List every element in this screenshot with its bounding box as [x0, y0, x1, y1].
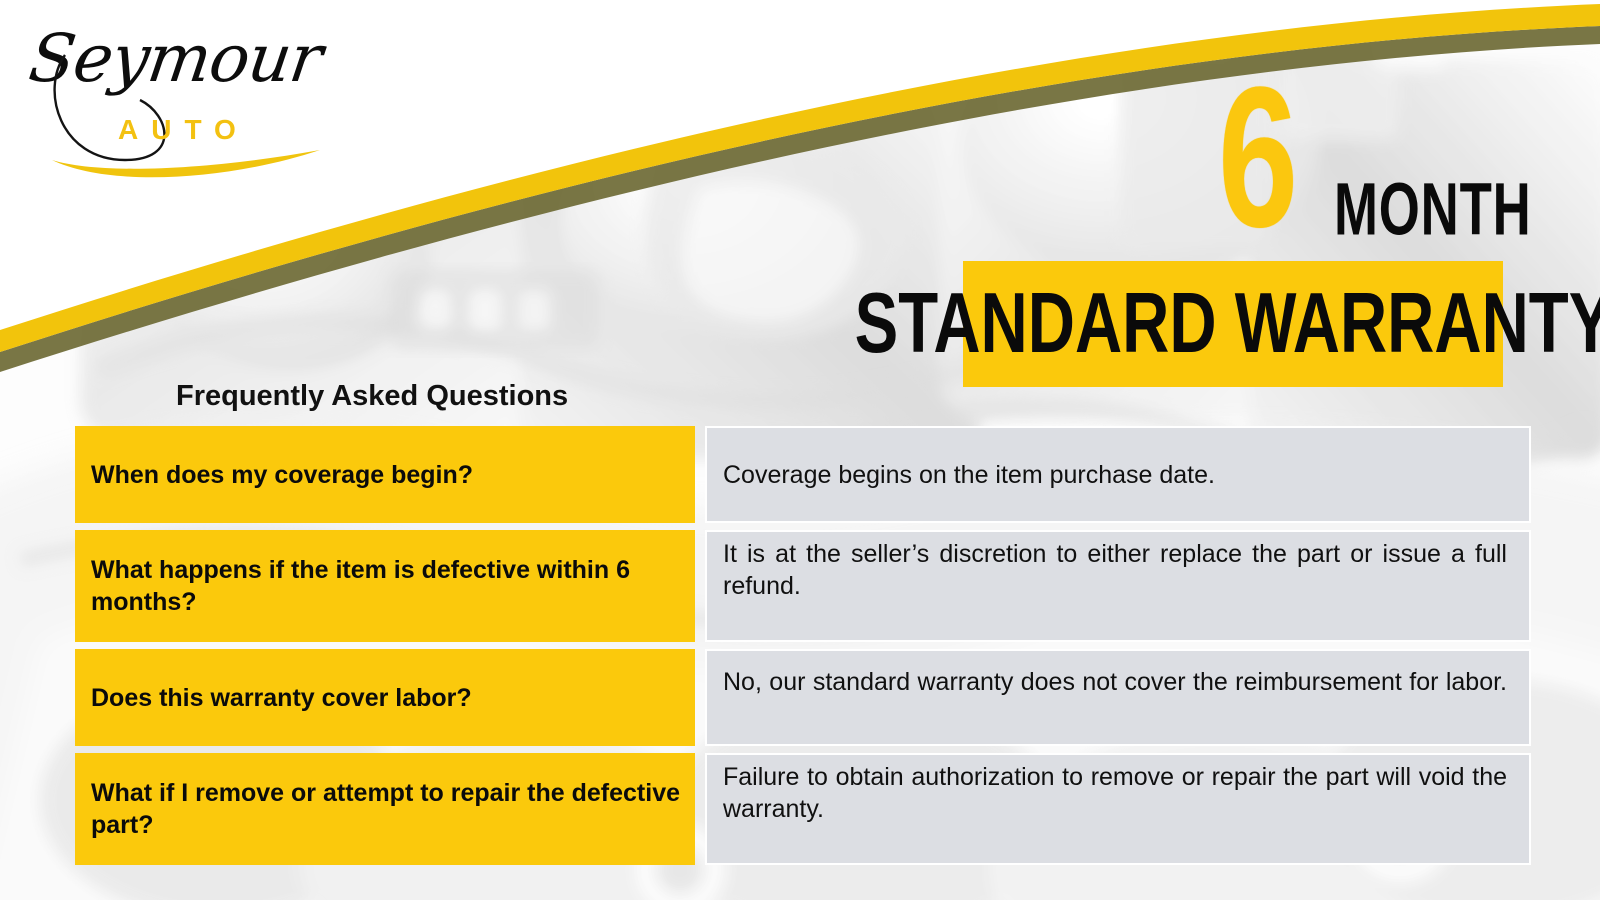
- faq-answer-text: Coverage begins on the item purchase dat…: [723, 459, 1507, 491]
- standard-warranty-title: STANDARD WARRANTY: [854, 281, 1600, 366]
- warranty-duration-unit: MONTH: [1334, 172, 1532, 246]
- faq-heading: Frequently Asked Questions: [176, 379, 568, 413]
- warranty-slide: Seymour AUTO 6 MONTH STANDARD WARRANTY F…: [0, 0, 1600, 900]
- faq-answer-cell: It is at the seller’s discretion to eith…: [705, 530, 1531, 642]
- brand-logo: Seymour AUTO: [30, 20, 330, 180]
- faq-question-text: Does this warranty cover labor?: [91, 682, 472, 714]
- faq-table: When does my coverage begin?Coverage beg…: [75, 421, 1531, 870]
- warranty-duration-number: 6: [1218, 68, 1298, 248]
- faq-question-text: What happens if the item is defective wi…: [91, 554, 695, 618]
- faq-answer-text: No, our standard warranty does not cover…: [723, 666, 1507, 730]
- faq-answer-text: Failure to obtain authorization to remov…: [723, 761, 1507, 857]
- faq-row: Does this warranty cover labor?No, our s…: [75, 649, 1531, 746]
- faq-question-cell: What happens if the item is defective wi…: [75, 530, 695, 642]
- standard-warranty-banner: STANDARD WARRANTY: [963, 261, 1503, 387]
- faq-question-cell: Does this warranty cover labor?: [75, 649, 695, 746]
- faq-row: When does my coverage begin?Coverage beg…: [75, 426, 1531, 523]
- logo-underline-swoosh: [30, 20, 330, 180]
- faq-answer-cell: No, our standard warranty does not cover…: [705, 649, 1531, 746]
- faq-answer-cell: Coverage begins on the item purchase dat…: [705, 426, 1531, 523]
- faq-question-cell: What if I remove or attempt to repair th…: [75, 753, 695, 865]
- faq-row: What happens if the item is defective wi…: [75, 530, 1531, 642]
- logo-subtext: AUTO: [118, 114, 249, 146]
- faq-question-cell: When does my coverage begin?: [75, 426, 695, 523]
- faq-question-text: What if I remove or attempt to repair th…: [91, 777, 695, 841]
- faq-question-text: When does my coverage begin?: [91, 459, 473, 491]
- faq-answer-cell: Failure to obtain authorization to remov…: [705, 753, 1531, 865]
- faq-row: What if I remove or attempt to repair th…: [75, 753, 1531, 865]
- faq-answer-text: It is at the seller’s discretion to eith…: [723, 538, 1507, 634]
